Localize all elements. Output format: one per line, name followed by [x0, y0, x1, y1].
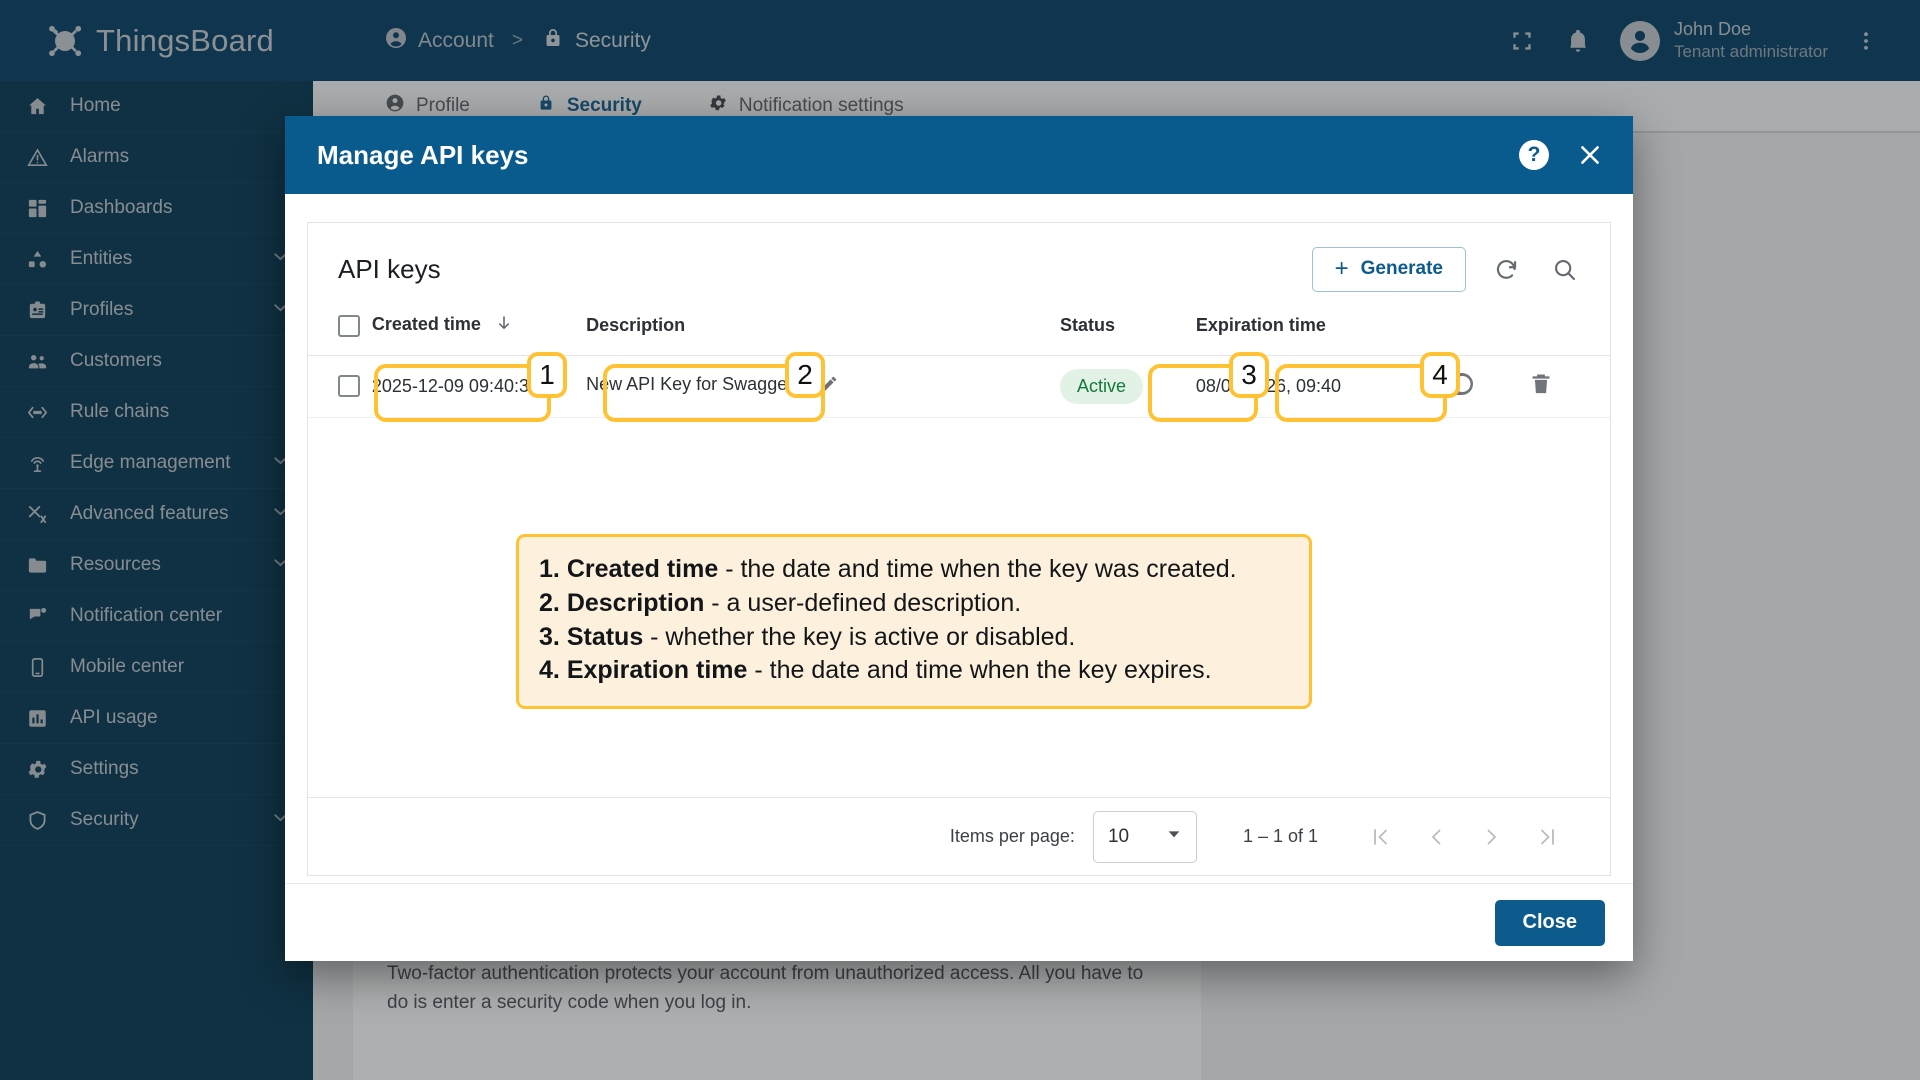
api-keys-table: Created time Description Status Expirati… [308, 297, 1610, 418]
status-badge: Active [1060, 369, 1143, 404]
pencil-icon[interactable] [818, 373, 840, 400]
dialog-footer: Close [285, 883, 1633, 961]
paginator: Items per page: 10 1 – 1 of 1 [308, 797, 1610, 875]
cell-delete [1528, 355, 1610, 417]
cell-created-time: 2025-12-09 09:40:35 [372, 355, 586, 417]
cell-status: Active [1060, 355, 1196, 417]
plus-icon: + [1335, 255, 1349, 283]
column-label-created-time: Created time [372, 314, 481, 334]
column-header-delete [1528, 297, 1610, 355]
table-row[interactable]: 2025-12-09 09:40:35 New API Key for Swag… [308, 355, 1610, 417]
api-keys-card: API keys + Generate [307, 222, 1611, 876]
column-header-toggle [1433, 297, 1528, 355]
column-header-created-time[interactable]: Created time [372, 297, 586, 355]
last-page-icon[interactable] [1520, 814, 1576, 860]
dialog-header: Manage API keys ? [285, 116, 1633, 194]
page-range-label: 1 – 1 of 1 [1243, 826, 1318, 847]
trash-icon[interactable] [1528, 371, 1554, 402]
refresh-icon[interactable] [1488, 251, 1524, 287]
dialog-body: API keys + Generate [285, 194, 1633, 883]
dialog-title: Manage API keys [317, 140, 528, 171]
select-all-checkbox[interactable] [338, 315, 360, 337]
row-checkbox[interactable] [338, 375, 360, 397]
toggle-on-icon[interactable] [1433, 373, 1473, 400]
cell-expiration-time-value: 08/01/2026, 09:40 [1196, 376, 1341, 396]
arrow-down-icon [495, 316, 513, 336]
manage-api-keys-dialog: Manage API keys ? API keys + Generate [285, 116, 1633, 961]
items-per-page-select[interactable]: 10 [1093, 811, 1197, 863]
help-circle-icon[interactable]: ? [1519, 140, 1549, 170]
search-icon[interactable] [1546, 251, 1582, 287]
chevron-down-icon [1166, 826, 1182, 848]
first-page-icon[interactable] [1352, 814, 1408, 860]
row-checkbox-cell [308, 355, 372, 417]
api-keys-title: API keys [338, 254, 441, 285]
items-per-page-label: Items per page: [950, 826, 1075, 847]
select-all-header [308, 297, 372, 355]
generate-button-label: Generate [1361, 258, 1443, 280]
cell-description-value: New API Key for Swagger [586, 374, 793, 394]
column-header-description[interactable]: Description [586, 297, 1060, 355]
generate-button[interactable]: + Generate [1312, 247, 1466, 292]
cell-created-time-value: 2025-12-09 09:40:35 [372, 376, 539, 396]
cell-expiration-time: 08/01/2026, 09:40 [1196, 355, 1433, 417]
table-header-row: Created time Description Status Expirati… [308, 297, 1610, 355]
column-header-status[interactable]: Status [1060, 297, 1196, 355]
close-button[interactable]: Close [1495, 900, 1605, 946]
items-per-page-value: 10 [1108, 826, 1166, 848]
next-page-icon[interactable] [1464, 814, 1520, 860]
api-keys-toolbar: API keys + Generate [308, 223, 1610, 297]
cell-description: New API Key for Swagger [586, 355, 1060, 417]
cell-toggle [1433, 355, 1528, 417]
column-header-expiration-time[interactable]: Expiration time [1196, 297, 1433, 355]
close-icon[interactable] [1575, 140, 1605, 170]
prev-page-icon[interactable] [1408, 814, 1464, 860]
